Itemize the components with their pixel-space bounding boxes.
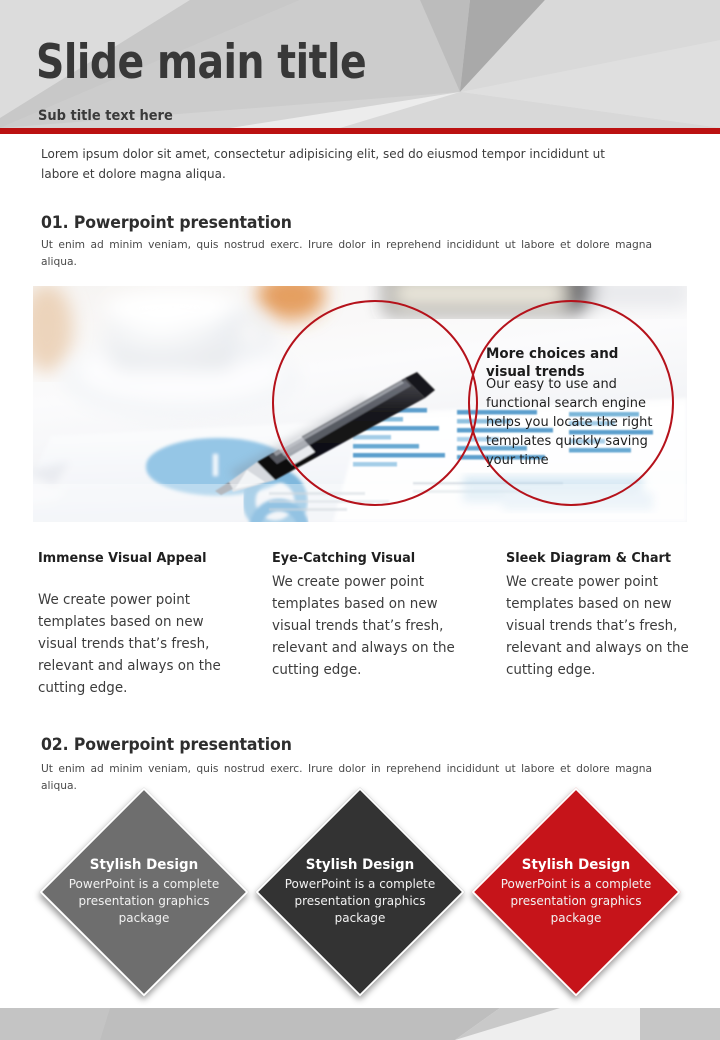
header-accent-rule [0,128,720,134]
feature-column-3-heading: Sleek Diagram & Chart [506,549,692,567]
diamond-card-2-title: Stylish Design [283,856,437,874]
diamond-card-1-title: Stylish Design [67,856,221,874]
intro-paragraph: Lorem ipsum dolor sit amet, consectetur … [41,144,617,184]
page-subtitle: Sub title text here [38,108,173,124]
footer-polygon-background [0,1008,720,1040]
feature-column-1-heading: Immense Visual Appeal [38,549,224,567]
feature-column-1: Immense Visual Appeal We create power po… [38,549,234,699]
feature-column-2-heading: Eye-Catching Visual [272,549,458,567]
slide-header: Slide main title Sub title text here [0,0,720,128]
feature-column-3: Sleek Diagram & Chart We create power po… [506,549,702,681]
diamond-card-3-text: Stylish Design PowerPoint is a complete … [496,856,656,926]
section-subtext-02: Ut enim ad minim veniam, quis nostrud ex… [41,760,652,794]
section-heading-02: 02. Powerpoint presentation [41,735,292,754]
diamond-card-3-title: Stylish Design [499,856,653,874]
section-subtext-01: Ut enim ad minim veniam, quis nostrud ex… [41,236,652,270]
diamond-card-1[interactable]: Stylish Design PowerPoint is a complete … [46,806,242,978]
feature-column-2: Eye-Catching Visual We create power poin… [272,549,468,681]
feature-column-2-body: We create power point templates based on… [272,571,460,681]
diamond-card-2-text: Stylish Design PowerPoint is a complete … [280,856,440,926]
page-title: Slide main title [36,38,366,88]
photo-circle-left [272,300,478,506]
diamond-card-2-body: PowerPoint is a complete presentation gr… [283,875,437,926]
slide-footer [0,1008,720,1040]
diamond-card-1-text: Stylish Design PowerPoint is a complete … [64,856,224,926]
diamond-card-3[interactable]: Stylish Design PowerPoint is a complete … [478,806,674,978]
diamond-card-2[interactable]: Stylish Design PowerPoint is a complete … [262,806,458,978]
diamond-card-1-body: PowerPoint is a complete presentation gr… [67,875,221,926]
section-heading-01: 01. Powerpoint presentation [41,213,292,232]
diamond-card-3-body: PowerPoint is a complete presentation gr… [499,875,653,926]
feature-column-3-body: We create power point templates based on… [506,571,694,681]
feature-column-1-body: We create power point templates based on… [38,589,226,699]
circle-callout-body: Our easy to use and functional search en… [486,375,657,470]
